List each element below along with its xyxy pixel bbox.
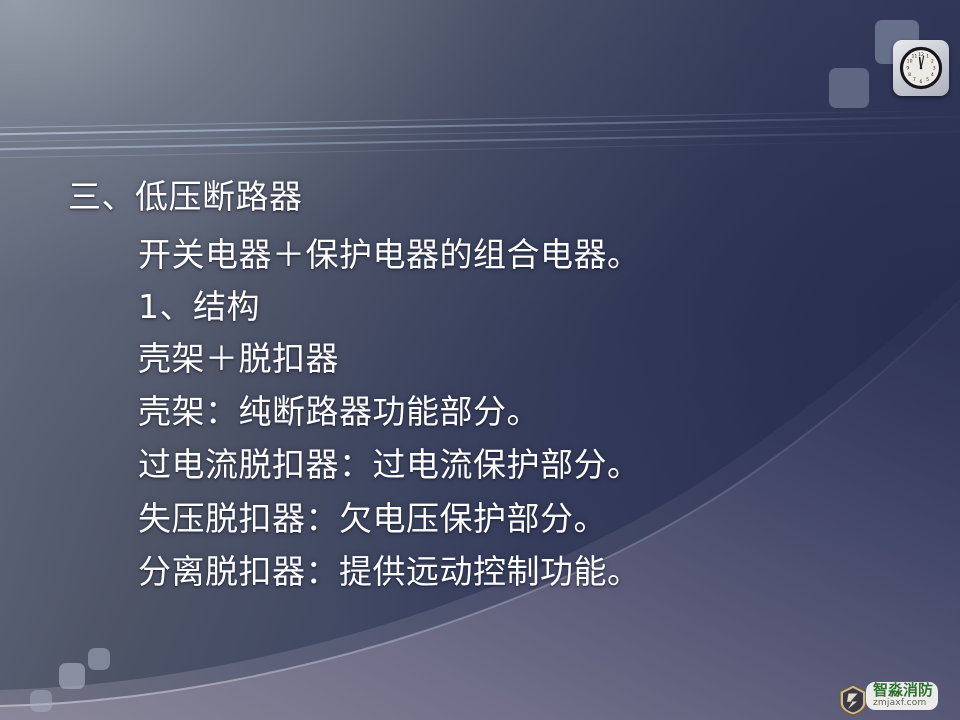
body-line-3: 1、结构 <box>138 280 260 328</box>
slide-body-text: 三、低压断路器开关电器＋保护电器的组合电器。1、结构壳架＋脱扣器壳架：纯断路器功… <box>0 0 960 720</box>
body-line-7: 失压脱扣器：欠电压保护部分。 <box>138 492 607 540</box>
body-line-1: 三、低压断路器 <box>68 170 303 218</box>
watermark-bubble: 智淼消防 zmjaxf.com <box>866 682 938 710</box>
body-line-5: 壳架：纯断路器功能部分。 <box>138 385 540 433</box>
body-line-6: 过电流脱扣器：过电流保护部分。 <box>138 438 641 486</box>
body-line-4: 壳架＋脱扣器 <box>138 332 339 380</box>
body-line-2: 开关电器＋保护电器的组合电器。 <box>138 228 641 276</box>
watermark-url: zmjaxf.com <box>873 699 933 708</box>
presentation-slide: 12 1 2 3 4 5 6 7 8 9 10 11 三、低压断路器开关电器＋保… <box>0 0 960 720</box>
shield-logo-icon <box>838 684 868 716</box>
watermark[interactable]: 智淼消防 zmjaxf.com <box>838 681 956 719</box>
watermark-brand: 智淼消防 <box>873 683 933 698</box>
body-line-8: 分离脱扣器：提供远动控制功能。 <box>138 545 641 593</box>
